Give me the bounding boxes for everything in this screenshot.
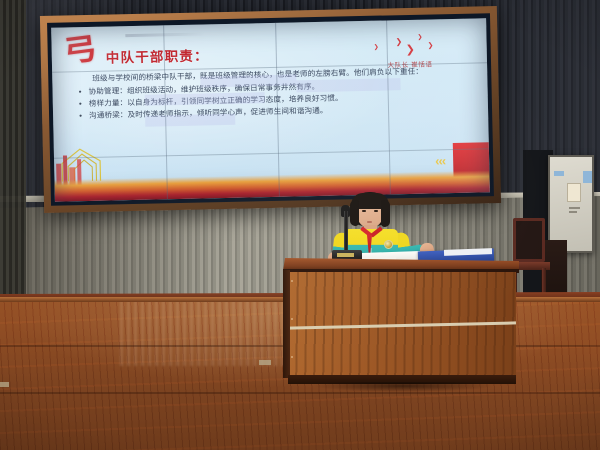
wall-notice-board (548, 155, 594, 253)
auditorium-photo: 弓 中队干部职责： ❯ ❯ ❯ ❯ ❯ 大队长 崔恬语 班级与学校间的桥梁中队干… (0, 0, 600, 450)
left-wall-return (0, 0, 26, 320)
microphone-nameplate (337, 253, 354, 257)
slide-bullet-list: 协助管理：组织班级活动，维护班级秩序，确保日常事务井然有序。 榜样力量：以自身为… (78, 77, 480, 121)
podium-screw (291, 280, 293, 282)
floor-metal-strip (259, 360, 271, 365)
chair-backrest (513, 218, 545, 262)
podium-left-side (283, 270, 290, 378)
hair-left-side (350, 200, 359, 226)
bird-icon: ❯ (395, 38, 402, 45)
notice-text-line-2 (569, 211, 577, 213)
slide-title: 中队干部职责： (106, 44, 209, 66)
eye-left (362, 210, 366, 212)
chevron-decoration: ‹‹‹ (435, 154, 445, 167)
slide-header-smudge (125, 32, 205, 37)
podium-screw (291, 356, 293, 358)
presentation-slide: 弓 中队干部职责： ❯ ❯ ❯ ❯ ❯ 大队长 崔恬语 班级与学校间的桥梁中队干… (51, 18, 490, 201)
uniform-badge (384, 240, 393, 249)
bird-icon: ❯ (417, 35, 422, 42)
screen-bezel: 弓 中队干部职责： ❯ ❯ ❯ ❯ ❯ 大队长 崔恬语 班级与学校间的桥梁中队干… (47, 13, 494, 206)
wooden-podium (283, 258, 519, 390)
microphone-stem (344, 211, 348, 253)
led-video-wall[interactable]: 弓 中队干部职责： ❯ ❯ ❯ ❯ ❯ 大队长 崔恬语 班级与学校间的桥梁中队干… (40, 6, 501, 213)
bird-decoration-group: ❯ ❯ ❯ ❯ ❯ (369, 33, 444, 61)
eye-right (374, 210, 378, 212)
podium-screw (291, 318, 293, 320)
slide-body: 班级与学校间的桥梁中队干部，既是班级管理的核心，也是老师的左膀右臂。他们肩负以下… (78, 64, 480, 121)
notice-tag-left (554, 171, 564, 176)
notice-text-line-1 (569, 207, 580, 209)
notice-document (567, 183, 581, 202)
bird-icon: ❯ (406, 47, 415, 54)
floor-metal-strip (0, 382, 9, 387)
bird-icon: ❯ (428, 42, 434, 49)
mouth (367, 221, 372, 223)
bird-icon: ❯ (374, 45, 379, 52)
red-ribbon-logo: 弓 (62, 34, 99, 72)
hair-right-side (381, 200, 390, 227)
podium-floor-shadow (283, 382, 523, 394)
notice-tag-right (583, 171, 592, 183)
